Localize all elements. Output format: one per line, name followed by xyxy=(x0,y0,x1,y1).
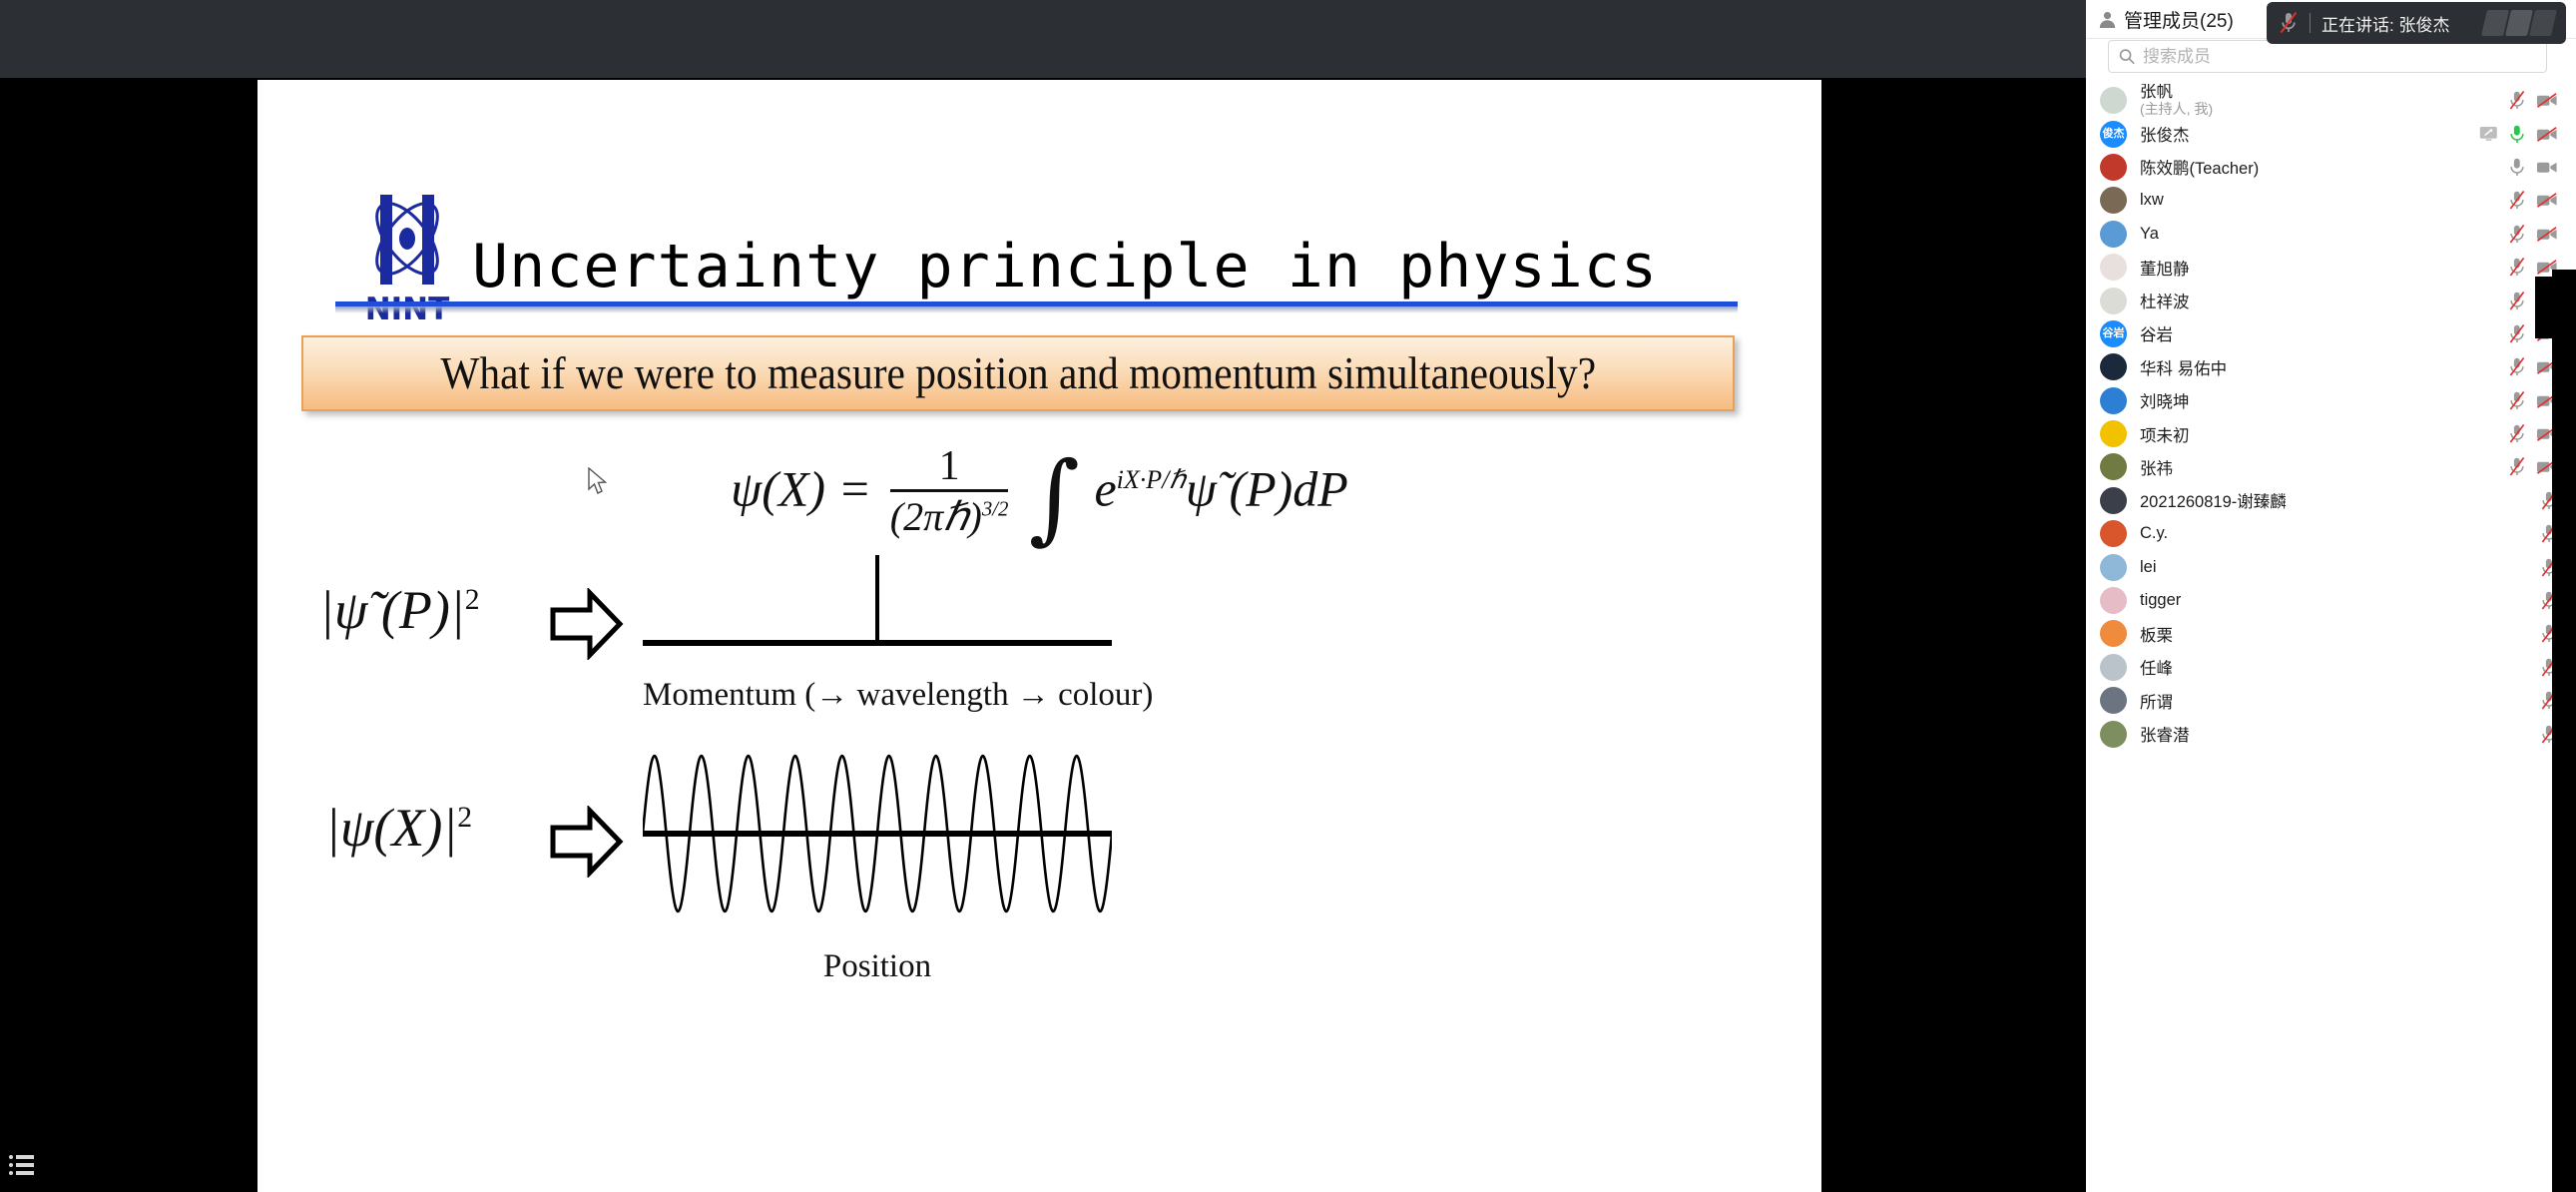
toast-divider xyxy=(2310,13,2311,33)
participants-count-title: 管理成员(25) xyxy=(2124,6,2234,33)
camera-icon[interactable] xyxy=(2536,192,2558,209)
participant-name-block: 任峰 xyxy=(2140,655,2527,679)
block-arrow-right-icon xyxy=(549,806,624,878)
participant-name-block: 板栗 xyxy=(2140,622,2527,646)
participant-name-block: 2021260819-谢臻麟 xyxy=(2140,488,2527,512)
participant-row[interactable]: 张睿潜 xyxy=(2086,717,2576,750)
participant-name-block: 谷岩 xyxy=(2140,321,2495,345)
participant-name: lxw xyxy=(2140,191,2164,210)
participant-status-icons xyxy=(2508,157,2558,178)
screen-root: NINT Uncertainty principle in physics Wh… xyxy=(0,0,2576,1192)
avatar xyxy=(2100,87,2127,114)
participant-row[interactable]: 陈效鹏(Teacher) xyxy=(2086,151,2576,184)
title-divider-shadow xyxy=(335,306,1738,313)
avatar xyxy=(2100,453,2127,480)
mic-muted-icon xyxy=(2279,11,2299,35)
participant-row[interactable]: 所谓 xyxy=(2086,684,2576,717)
participant-row[interactable]: C.y. xyxy=(2086,517,2576,550)
position-sine-wave-plot xyxy=(643,734,1112,933)
camera-icon[interactable] xyxy=(2536,226,2558,243)
participant-status-icons xyxy=(2508,423,2558,444)
participant-row[interactable]: 任峰 xyxy=(2086,651,2576,684)
avatar xyxy=(2100,387,2127,414)
avatar: 谷岩 xyxy=(2100,320,2127,347)
search-icon xyxy=(2119,48,2135,65)
participant-name: 杜祥波 xyxy=(2140,289,2190,312)
mouse-cursor xyxy=(587,467,609,497)
participant-row[interactable]: 俊杰张俊杰 xyxy=(2086,117,2576,150)
participant-row[interactable]: lxw xyxy=(2086,184,2576,217)
avatar xyxy=(2100,487,2127,514)
integral-sign: ∫ xyxy=(1029,441,1080,555)
avatar xyxy=(2100,221,2127,248)
block-arrow-right-icon xyxy=(549,588,624,660)
list-view-icon[interactable] xyxy=(5,1150,39,1180)
screen-share-icon[interactable] xyxy=(2479,126,2498,142)
participant-name: 刘晓坤 xyxy=(2140,388,2190,412)
camera-icon[interactable] xyxy=(2536,126,2558,143)
participant-name: 项未初 xyxy=(2140,422,2190,446)
avatar xyxy=(2100,620,2127,647)
participant-name-block: 华科 易佑中 xyxy=(2140,355,2495,379)
participant-name-block: 董旭静 xyxy=(2140,256,2495,280)
fraction-numerator: 1 xyxy=(890,444,1009,488)
participant-row[interactable]: 板栗 xyxy=(2086,617,2576,650)
avatar xyxy=(2100,353,2127,380)
participant-name-block: Ya xyxy=(2140,225,2495,244)
camera-icon[interactable] xyxy=(2536,92,2558,109)
presentation-slide: NINT Uncertainty principle in physics Wh… xyxy=(258,80,1821,1192)
shared-screen-stage: NINT Uncertainty principle in physics Wh… xyxy=(0,78,2086,1192)
integrand-base: e xyxy=(1094,460,1116,516)
slide-title: Uncertainty principle in physics xyxy=(472,232,1720,301)
participant-list[interactable]: 张帆(主持人, 我)俊杰张俊杰陈效鹏(Teacher)lxwYa董旭静杜祥波谷岩… xyxy=(2086,84,2576,1192)
avatar xyxy=(2100,687,2127,714)
participant-row[interactable]: lei xyxy=(2086,550,2576,583)
participant-row[interactable]: 2021260819-谢臻麟 xyxy=(2086,484,2576,517)
mic-icon[interactable] xyxy=(2508,291,2526,311)
avatar xyxy=(2100,587,2127,614)
mic-icon[interactable] xyxy=(2508,390,2526,411)
avatar xyxy=(2100,420,2127,447)
participant-name: 张祎 xyxy=(2140,455,2173,479)
participant-name: 张俊杰 xyxy=(2140,122,2190,146)
mic-icon[interactable] xyxy=(2508,257,2526,278)
mic-icon[interactable] xyxy=(2508,124,2526,145)
active-speaker-text: 正在讲话: 张俊杰 xyxy=(2321,11,2449,36)
participant-status-icons xyxy=(2508,257,2558,278)
integrand-exponent: iX·P/ℏ xyxy=(1117,465,1186,494)
avatar xyxy=(2100,554,2127,581)
participant-name-block: 所谓 xyxy=(2140,689,2527,713)
participant-name-block: lxw xyxy=(2140,191,2495,210)
search-input[interactable] xyxy=(2143,47,2536,67)
participant-status-icons xyxy=(2508,456,2558,477)
fourier-transform-equation: ψ(X) = 1 (2πℏ)3/2 ∫ eiX·P/ℏψ̃ (P)dP xyxy=(258,437,1821,551)
participant-name-block: 张睿潜 xyxy=(2140,722,2527,746)
participant-row[interactable]: 张祎 xyxy=(2086,450,2576,483)
participant-status-icons xyxy=(2508,190,2558,211)
position-probability-label: |ψ(X)|2 xyxy=(325,797,472,859)
momentum-spike-plot xyxy=(643,539,1112,654)
participant-name-block: lei xyxy=(2140,558,2527,577)
equation-measure: dP xyxy=(1292,460,1348,516)
participant-name: 华科 易佑中 xyxy=(2140,355,2227,379)
participant-status-icons xyxy=(2479,124,2558,145)
avatar xyxy=(2100,187,2127,214)
mic-icon[interactable] xyxy=(2508,90,2526,111)
participant-name-block: 项未初 xyxy=(2140,422,2495,446)
mic-icon[interactable] xyxy=(2508,323,2526,344)
participant-name-block: C.y. xyxy=(2140,524,2527,543)
participant-name-block: 刘晓坤 xyxy=(2140,388,2495,412)
avatar xyxy=(2100,721,2127,748)
participant-name: tigger xyxy=(2140,591,2181,610)
participant-name: C.y. xyxy=(2140,524,2168,543)
active-speaker-toast: 正在讲话: 张俊杰 xyxy=(2267,2,2566,44)
participant-name: 所谓 xyxy=(2140,689,2173,713)
participant-name-block: 张帆(主持人, 我) xyxy=(2140,84,2495,117)
participant-name-block: 陈效鹏(Teacher) xyxy=(2140,155,2495,179)
participant-status-icons xyxy=(2508,224,2558,245)
tilde-psi: ψ̃ xyxy=(1186,460,1217,516)
participant-name-block: 张祎 xyxy=(2140,455,2495,479)
equation-fraction: 1 (2πℏ)3/2 xyxy=(890,444,1009,539)
mic-icon[interactable] xyxy=(2508,423,2526,444)
participant-status-icons xyxy=(2508,390,2558,411)
avatar xyxy=(2100,654,2127,681)
participant-name: 2021260819-谢臻麟 xyxy=(2140,488,2287,512)
participant-name: 谷岩 xyxy=(2140,321,2173,345)
participant-name: 张睿潜 xyxy=(2140,722,2190,746)
participant-name: 张帆 xyxy=(2140,84,2495,101)
question-banner-text: What if we were to measure position and … xyxy=(440,347,1596,399)
participants-panel: 管理成员(25) 张帆(主持人, 我)俊杰张俊杰陈效鹏(Teacher)lxwY… xyxy=(2086,0,2576,1192)
right-edge-shade-notch xyxy=(2535,277,2552,338)
mic-icon[interactable] xyxy=(2508,224,2526,245)
participant-row[interactable]: Ya xyxy=(2086,218,2576,251)
participant-name: 董旭静 xyxy=(2140,256,2190,280)
participant-name-block: 杜祥波 xyxy=(2140,289,2495,312)
participant-status-icons xyxy=(2508,90,2558,111)
momentum-caption: Momentum (→ wavelength → colour) xyxy=(643,677,1112,714)
participant-row[interactable]: 张帆(主持人, 我) xyxy=(2086,84,2576,117)
participant-row[interactable]: 项未初 xyxy=(2086,417,2576,450)
participant-row[interactable]: 杜祥波 xyxy=(2086,284,2576,316)
participant-name: 陈效鹏(Teacher) xyxy=(2140,155,2259,179)
position-caption: Position xyxy=(643,948,1112,985)
participant-name: 板栗 xyxy=(2140,622,2173,646)
mic-icon[interactable] xyxy=(2508,190,2526,211)
participant-name-block: tigger xyxy=(2140,591,2527,610)
participant-name: 任峰 xyxy=(2140,655,2173,679)
fraction-denominator: (2πℏ)3/2 xyxy=(890,489,1009,540)
avatar xyxy=(2100,520,2127,547)
momentum-probability-label: |ψ̃ (P)|2 xyxy=(319,579,480,641)
participant-row[interactable]: 董旭静 xyxy=(2086,251,2576,284)
participant-search-box[interactable] xyxy=(2108,40,2547,73)
participant-status-icons xyxy=(2508,356,2558,377)
participant-row[interactable]: tigger xyxy=(2086,584,2576,617)
avatar xyxy=(2100,254,2127,281)
mic-icon[interactable] xyxy=(2508,157,2526,178)
mic-icon[interactable] xyxy=(2508,356,2526,377)
avatar: 俊杰 xyxy=(2100,121,2127,148)
mic-icon[interactable] xyxy=(2508,456,2526,477)
equation-argument: (P) xyxy=(1229,460,1292,516)
participant-name-block: 张俊杰 xyxy=(2140,122,2466,146)
participant-role: (主持人, 我) xyxy=(2140,101,2495,117)
avatar xyxy=(2100,154,2127,181)
question-banner: What if we were to measure position and … xyxy=(301,335,1735,411)
right-edge-shade xyxy=(2552,270,2576,1192)
participant-row[interactable]: 刘晓坤 xyxy=(2086,384,2576,417)
participant-name: lei xyxy=(2140,558,2157,577)
person-icon xyxy=(2098,10,2117,29)
participant-row[interactable]: 谷岩谷岩 xyxy=(2086,317,2576,350)
meeting-top-chrome-bar xyxy=(0,0,2086,78)
toast-thumbnails xyxy=(2484,10,2554,36)
equation-lhs: ψ(X) = xyxy=(731,460,871,516)
avatar xyxy=(2100,288,2127,314)
participant-row[interactable]: 华科 易佑中 xyxy=(2086,350,2576,383)
camera-icon[interactable] xyxy=(2536,159,2558,176)
participant-name: Ya xyxy=(2140,225,2159,244)
